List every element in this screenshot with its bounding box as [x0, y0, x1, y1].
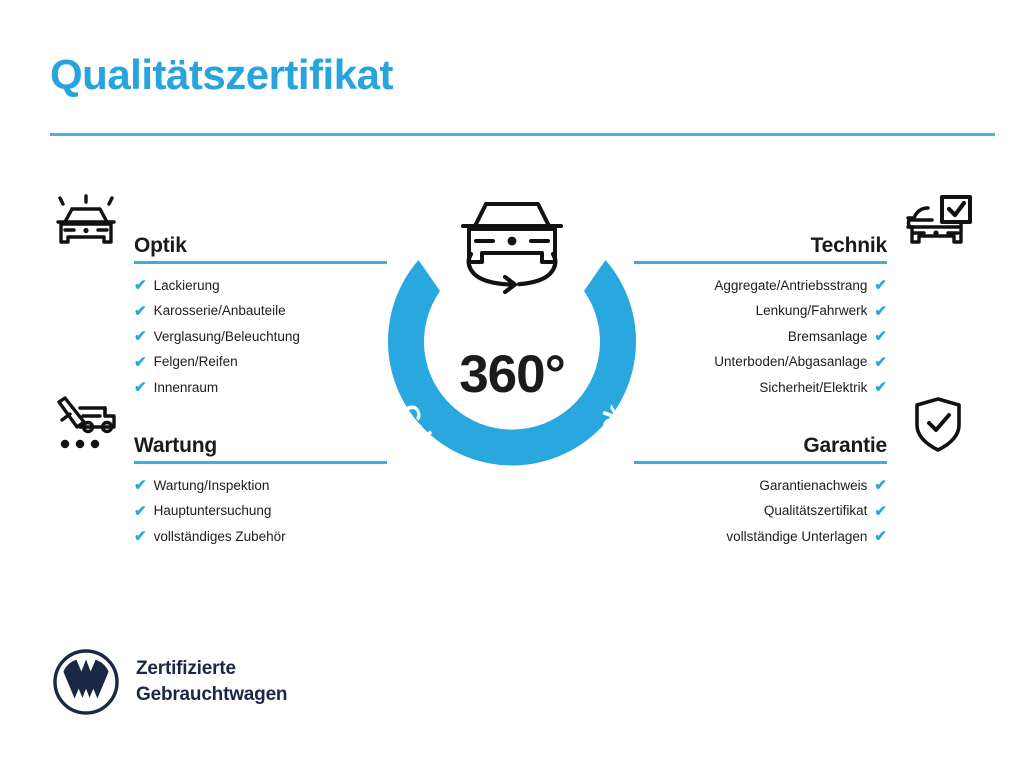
car-shine-icon: [50, 194, 122, 256]
footer-line-2: Gebrauchtwagen: [136, 682, 287, 708]
list-item: vollständige Unterlagen✔: [594, 529, 974, 544]
list-item-label: Verglasung/Beleuchtung: [154, 330, 300, 344]
certificate-page: Qualitätszertifikat Optik: [0, 0, 1024, 768]
list-item: Qualitätszertifikat✔: [594, 504, 974, 519]
footer-logo-block: Zertifizierte Gebrauchtwagen: [52, 648, 287, 716]
volkswagen-logo: [52, 648, 120, 716]
list-item-label: Sicherheit/Elektrik: [759, 381, 867, 395]
block-title-wartung: Wartung: [134, 434, 217, 458]
check-icon: ✔: [874, 504, 887, 519]
block-title-garantie: Garantie: [803, 434, 887, 458]
list-item-label: Karosserie/Anbauteile: [154, 304, 286, 318]
footer-line-1: Zertifizierte: [136, 656, 287, 682]
check-icon: ✔: [874, 355, 887, 370]
list-item-label: vollständiges Zubehör: [154, 530, 286, 544]
list-item: ✔vollständiges Zubehör: [50, 529, 430, 544]
block-divider-garantie: [634, 461, 887, 464]
check-icon: ✔: [874, 529, 887, 544]
check-icon: ✔: [134, 329, 147, 344]
footer-text: Zertifizierte Gebrauchtwagen: [136, 656, 287, 707]
check-icon: ✔: [134, 355, 147, 370]
block-title-optik: Optik: [134, 234, 187, 258]
list-item-label: Qualitätszertifikat: [764, 504, 868, 518]
block-title-technik: Technik: [811, 234, 887, 258]
list-item-label: Unterboden/Abgasanlage: [714, 355, 867, 369]
check-icon: ✔: [134, 278, 147, 293]
list-item-label: Lackierung: [154, 279, 220, 293]
check-icon: ✔: [134, 304, 147, 319]
list-item-label: Lenkung/Fahrwerk: [756, 304, 868, 318]
list-item-label: Bremsanlage: [788, 330, 868, 344]
list-item-label: Wartung/Inspektion: [154, 479, 270, 493]
check-icon: ✔: [874, 329, 887, 344]
page-title: Qualitätszertifikat: [50, 52, 393, 98]
check-icon: ✔: [874, 380, 887, 395]
check-icon: ✔: [134, 529, 147, 544]
block-divider-wartung: [134, 461, 387, 464]
car-checkbox-icon: [902, 194, 974, 256]
360-check-badge: Gebrauchtwagen-Check 360°: [370, 192, 654, 492]
title-divider: [50, 133, 995, 136]
shield-check-icon: [902, 394, 974, 456]
block-divider-optik: [134, 261, 387, 264]
badge-degrees-label: 360°: [370, 344, 654, 405]
wrench-van-icon: [50, 394, 122, 456]
list-item-label: Garantienachweis: [759, 479, 867, 493]
check-icon: ✔: [134, 380, 147, 395]
check-icon: ✔: [874, 304, 887, 319]
list-item-label: Hauptuntersuchung: [154, 504, 272, 518]
car-rotate-icon: [445, 192, 579, 296]
list-item-label: vollständige Unterlagen: [726, 530, 867, 544]
check-icon: ✔: [134, 504, 147, 519]
list-item-label: Aggregate/Antriebsstrang: [714, 279, 867, 293]
list-item: ✔Hauptuntersuchung: [50, 504, 430, 519]
check-icon: ✔: [874, 278, 887, 293]
check-icon: ✔: [874, 478, 887, 493]
check-icon: ✔: [134, 478, 147, 493]
list-item-label: Felgen/Reifen: [154, 355, 238, 369]
block-divider-technik: [634, 261, 887, 264]
list-item-label: Innenraum: [154, 381, 219, 395]
